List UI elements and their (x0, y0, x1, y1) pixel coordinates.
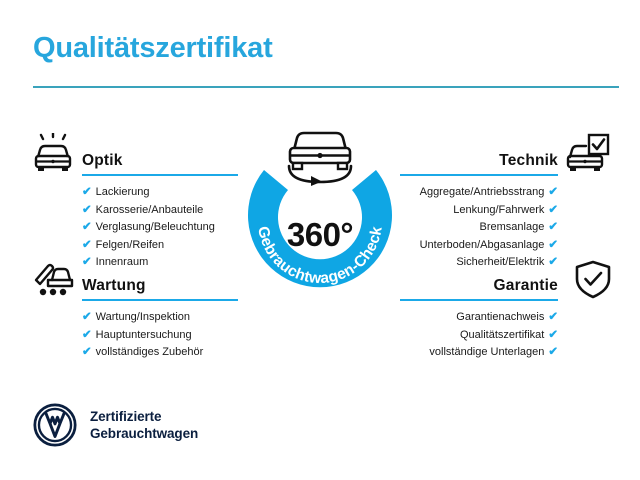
section-header: Garantie (400, 271, 558, 297)
section-title-garantie: Garantie (494, 277, 559, 295)
list-item: ✔Karosserie/Anbauteile (82, 202, 238, 220)
list-item: ✔Lackierung (82, 184, 238, 202)
check-icon: ✔ (82, 329, 92, 341)
list-item-label: Felgen/Reifen (96, 239, 165, 251)
list-item: ✔vollständiges Zubehör (82, 344, 238, 362)
section-garantie: Garantie Garantienachweis✔ Qualitätszert… (400, 271, 558, 362)
check-icon: ✔ (82, 346, 92, 358)
list-item: Sicherheit/Elektrik✔ (400, 254, 558, 272)
list-item: vollständige Unterlagen✔ (400, 344, 558, 362)
list-item-label: vollständige Unterlagen (429, 346, 544, 358)
list-item-label: Qualitätszertifikat (460, 329, 544, 341)
list-item: ✔Felgen/Reifen (82, 237, 238, 255)
section-divider (400, 174, 558, 176)
list-item-label: Unterboden/Abgasanlage (420, 239, 545, 251)
footer-line-2: Gebrauchtwagen (90, 425, 198, 442)
list-item-label: Lackierung (96, 186, 150, 198)
shield-check-icon (570, 260, 616, 300)
footer-brand: Zertifizierte Gebrauchtwagen (33, 403, 198, 447)
list-item-label: Verglasung/Beleuchtung (96, 221, 215, 233)
check-icon: ✔ (548, 239, 558, 251)
list-item: Garantienachweis✔ (400, 309, 558, 327)
list-item-label: Bremsanlage (480, 221, 545, 233)
check-icon: ✔ (548, 311, 558, 323)
list-item: Bremsanlage✔ (400, 219, 558, 237)
volkswagen-logo-icon (33, 403, 77, 447)
list-item: Aggregate/Antriebsstrang✔ (400, 184, 558, 202)
list-item-label: Aggregate/Antriebsstrang (420, 186, 545, 198)
car-shine-icon (30, 133, 76, 173)
title-divider (33, 86, 619, 88)
section-title-optik: Optik (82, 152, 123, 170)
certificate-page: Qualitätszertifikat Optik ✔Lackierung ✔K… (0, 0, 640, 480)
check-icon: ✔ (548, 346, 558, 358)
check-icon: ✔ (82, 256, 92, 268)
list-item-label: Wartung/Inspektion (96, 311, 190, 323)
list-item-label: vollständiges Zubehör (96, 346, 204, 358)
section-header: Technik (400, 146, 558, 172)
list-item-label: Garantienachweis (456, 311, 544, 323)
checklist-wartung: ✔Wartung/Inspektion ✔Hauptuntersuchung ✔… (82, 309, 238, 362)
check-icon: ✔ (82, 311, 92, 323)
check-icon: ✔ (548, 186, 558, 198)
section-title-wartung: Wartung (82, 277, 146, 295)
list-item-label: Innenraum (96, 256, 149, 268)
footer-text: Zertifizierte Gebrauchtwagen (90, 408, 198, 442)
list-item: ✔Innenraum (82, 254, 238, 272)
list-item-label: Hauptuntersuchung (96, 329, 192, 341)
checklist-garantie: Garantienachweis✔ Qualitätszertifikat✔ v… (400, 309, 558, 362)
check-icon: ✔ (548, 221, 558, 233)
section-optik: Optik ✔Lackierung ✔Karosserie/Anbauteile… (82, 146, 238, 272)
section-header: Optik (82, 146, 238, 172)
list-item: Lenkung/Fahrwerk✔ (400, 202, 558, 220)
section-header: Wartung (82, 271, 238, 297)
list-item-label: Lenkung/Fahrwerk (453, 204, 544, 216)
check-icon: ✔ (548, 329, 558, 341)
checklist-technik: Aggregate/Antriebsstrang✔ Lenkung/Fahrwe… (400, 184, 558, 272)
section-divider (82, 174, 238, 176)
list-item-label: Karosserie/Anbauteile (96, 204, 204, 216)
section-wartung: Wartung ✔Wartung/Inspektion ✔Hauptunters… (82, 271, 238, 362)
gebrauchtwagen-check-badge: Gebrauchtwagen-Check 360° (228, 118, 412, 308)
list-item: ✔Wartung/Inspektion (82, 309, 238, 327)
check-icon: ✔ (82, 186, 92, 198)
list-item-label: Sicherheit/Elektrik (456, 256, 544, 268)
car-checkbox-icon (564, 133, 610, 173)
check-icon: ✔ (548, 204, 558, 216)
section-technik: Technik Aggregate/Antriebsstrang✔ Lenkun… (400, 146, 558, 272)
list-item: Unterboden/Abgasanlage✔ (400, 237, 558, 255)
page-title: Qualitätszertifikat (33, 32, 273, 65)
section-divider (400, 299, 558, 301)
wrench-car-icon (30, 258, 76, 298)
checklist-optik: ✔Lackierung ✔Karosserie/Anbauteile ✔Verg… (82, 184, 238, 272)
check-icon: ✔ (82, 221, 92, 233)
check-icon: ✔ (548, 256, 558, 268)
section-title-technik: Technik (499, 152, 558, 170)
list-item: ✔Verglasung/Beleuchtung (82, 219, 238, 237)
section-divider (82, 299, 238, 301)
badge-degrees: 360° (228, 216, 412, 254)
footer-line-1: Zertifizierte (90, 408, 198, 425)
check-icon: ✔ (82, 239, 92, 251)
check-icon: ✔ (82, 204, 92, 216)
list-item: Qualitätszertifikat✔ (400, 327, 558, 345)
list-item: ✔Hauptuntersuchung (82, 327, 238, 345)
